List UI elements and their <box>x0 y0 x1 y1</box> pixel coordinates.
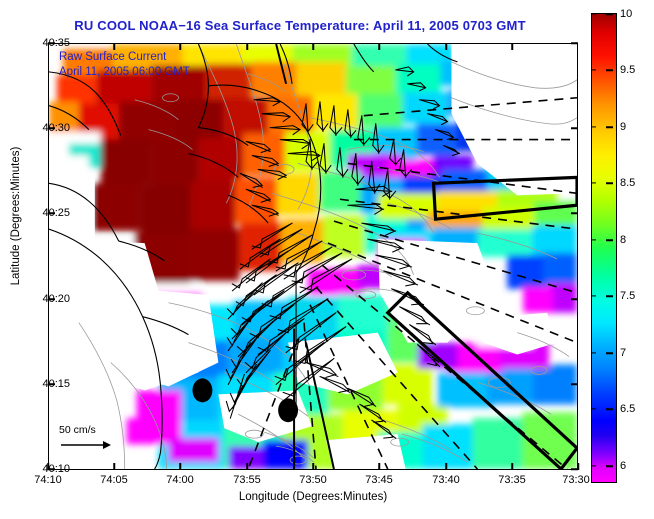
colorbar-tick-mark-6 <box>606 352 613 354</box>
x-tick-label-0: 74:10 <box>34 474 62 486</box>
colorbar-label-2: 9 <box>620 121 626 133</box>
y-tick-mark-right-0 <box>571 42 578 44</box>
map-plot-inner: Raw Surface Current April 11, 2005 06:00… <box>49 44 577 469</box>
colorbar-tick-left-6 <box>591 352 596 353</box>
x-tick-label-2: 74:00 <box>166 474 194 486</box>
y-tick-mark-right-4 <box>571 383 578 385</box>
colorbar-tick-mark-3 <box>606 182 613 184</box>
colorbar-label-4: 8 <box>620 234 626 246</box>
colorbar-tick-left-4 <box>591 239 596 240</box>
sst-raster-and-overlays <box>49 44 577 469</box>
colorbar-label-5: 7.5 <box>620 290 635 302</box>
x-tick-mark-top-6 <box>445 43 447 50</box>
figure-title: RU COOL NOAA−16 Sea Surface Temperature:… <box>0 18 600 33</box>
colorbar-label-0: 10 <box>620 8 632 20</box>
x-tick-mark-top-1 <box>113 43 115 50</box>
y-tick-mark-right-3 <box>571 298 578 300</box>
map-plot-area[interactable]: Raw Surface Current April 11, 2005 06:00… <box>48 43 578 470</box>
y-tick-label-4: 40:15 <box>42 378 70 390</box>
y-tick-mark-3 <box>48 298 55 300</box>
figure-canvas: RU COOL NOAA−16 Sea Surface Temperature:… <box>0 0 654 519</box>
y-tick-mark-1 <box>48 127 55 129</box>
x-tick-mark-5 <box>378 463 380 470</box>
x-tick-label-8: 73:30 <box>562 474 590 486</box>
colorbar-tick-mark-5 <box>606 295 613 297</box>
colorbar-tick-mark-8 <box>606 465 613 467</box>
y-tick-label-3: 40:20 <box>42 293 70 305</box>
colorbar-tick-mark-1 <box>606 69 613 71</box>
x-tick-mark-top-7 <box>511 43 513 50</box>
colorbar-tick-mark-7 <box>606 408 613 410</box>
y-tick-mark-4 <box>48 383 55 385</box>
colorbar-tick-left-3 <box>591 182 596 183</box>
y-axis-label: Latitude (Degrees:Minutes) <box>10 116 22 316</box>
colorbar-tick-left-1 <box>591 69 596 70</box>
colorbar-tick-mark-0 <box>606 13 613 15</box>
x-tick-label-7: 73:35 <box>498 474 526 486</box>
colorbar-tick-mark-4 <box>606 239 613 241</box>
colorbar-label-3: 8.5 <box>620 177 635 189</box>
y-tick-mark-right-1 <box>571 127 578 129</box>
colorbar-tick-left-0 <box>591 13 596 14</box>
colorbar-tick-left-7 <box>591 408 596 409</box>
scale-bar-label: 50 cm/s <box>59 424 96 436</box>
x-tick-label-6: 73:40 <box>432 474 460 486</box>
x-tick-label-1: 74:05 <box>100 474 128 486</box>
colorbar-tick-left-2 <box>591 126 596 127</box>
colorbar-gradient <box>591 13 617 483</box>
colorbar-tick-left-8 <box>591 465 596 466</box>
y-tick-mark-0 <box>48 42 55 44</box>
colorbar-tick-left-5 <box>591 295 596 296</box>
annotation-line-2: April 11, 2005 06:00 GMT <box>59 65 190 80</box>
colorbar-label-7: 6.5 <box>620 403 635 415</box>
x-tick-mark-8 <box>577 463 579 470</box>
y-tick-mark-5 <box>48 468 55 470</box>
x-tick-label-4: 73:50 <box>299 474 327 486</box>
x-tick-mark-top-4 <box>312 43 314 50</box>
colorbar-label-6: 7 <box>620 347 626 359</box>
annotation-line-1: Raw Surface Current <box>59 50 190 65</box>
y-tick-label-0: 40:35 <box>42 37 70 49</box>
x-tick-mark-top-5 <box>378 43 380 50</box>
y-tick-mark-right-2 <box>571 212 578 214</box>
colorbar-label-8: 6 <box>620 460 626 472</box>
velocity-scale-bar: 50 cm/s <box>59 424 113 451</box>
x-tick-mark-2 <box>179 463 181 470</box>
y-tick-mark-2 <box>48 212 55 214</box>
x-tick-mark-4 <box>312 463 314 470</box>
x-tick-mark-7 <box>511 463 513 470</box>
x-tick-mark-6 <box>445 463 447 470</box>
x-tick-mark-3 <box>246 463 248 470</box>
raw-surface-current-annotation: Raw Surface Current April 11, 2005 06:00… <box>59 50 190 80</box>
x-axis-label: Longitude (Degrees:Minutes) <box>48 491 578 503</box>
x-tick-label-5: 73:45 <box>365 474 393 486</box>
x-tick-mark-1 <box>113 463 115 470</box>
x-tick-mark-0 <box>47 463 49 470</box>
scale-bar-arrow-icon <box>59 439 113 451</box>
y-tick-label-1: 40:30 <box>42 122 70 134</box>
x-tick-mark-top-3 <box>246 43 248 50</box>
x-tick-mark-top-2 <box>179 43 181 50</box>
colorbar-tick-mark-2 <box>606 126 613 128</box>
y-tick-label-2: 40:25 <box>42 207 70 219</box>
x-tick-label-3: 73:55 <box>233 474 261 486</box>
colorbar-label-1: 9.5 <box>620 64 635 76</box>
